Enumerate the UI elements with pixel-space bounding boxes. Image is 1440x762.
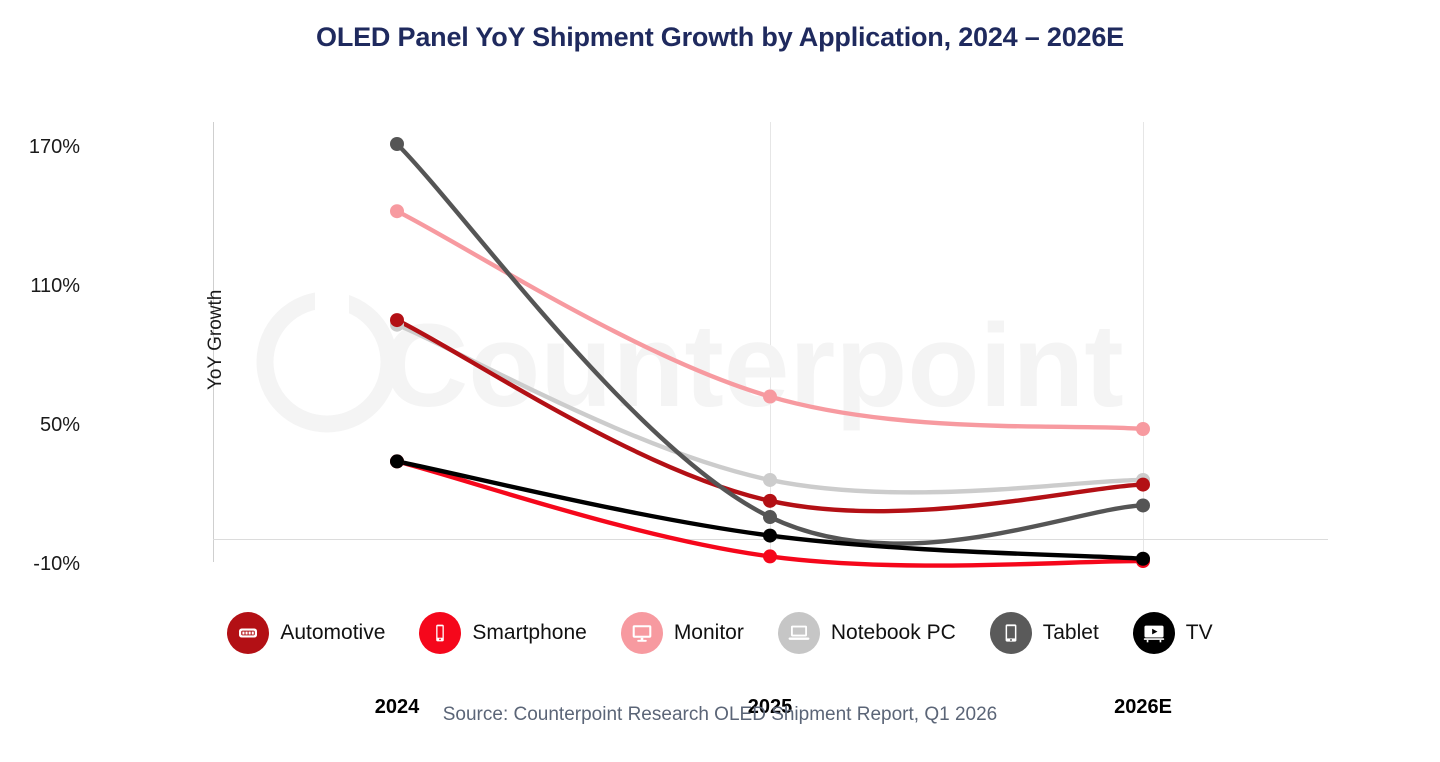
y-tick-label-0: 170% <box>0 137 80 157</box>
legend-item-automotive[interactable]: Automotive <box>227 612 385 654</box>
car-dashboard-icon <box>227 612 269 654</box>
monitor-icon <box>621 612 663 654</box>
legend-label-notebook-pc: Notebook PC <box>831 621 956 645</box>
smartphone-icon <box>419 612 461 654</box>
chart-legend: Automotive Smartphone Monitor <box>0 612 1440 654</box>
tv-icon <box>1133 612 1175 654</box>
legend-item-tv[interactable]: TV <box>1133 612 1213 654</box>
legend-label-smartphone: Smartphone <box>472 621 586 645</box>
plot-area: YoY Growth 170% 110% 50% -10% 2024 2025 … <box>213 122 1328 562</box>
y-tick-label-2: 50% <box>0 415 80 435</box>
legend-item-smartphone[interactable]: Smartphone <box>419 612 586 654</box>
legend-label-tablet: Tablet <box>1043 621 1099 645</box>
y-tick-label-1: 110% <box>0 276 80 296</box>
zero-line <box>213 539 1328 540</box>
legend-item-notebook-pc[interactable]: Notebook PC <box>778 612 956 654</box>
gridline-2025 <box>770 122 771 562</box>
legend-label-tv: TV <box>1186 621 1213 645</box>
page-title: OLED Panel YoY Shipment Growth by Applic… <box>0 22 1440 53</box>
laptop-icon <box>778 612 820 654</box>
legend-label-automotive: Automotive <box>280 621 385 645</box>
y-axis-title: YoY Growth <box>205 290 227 390</box>
legend-item-monitor[interactable]: Monitor <box>621 612 744 654</box>
y-tick-label-3: -10% <box>0 554 80 574</box>
legend-label-monitor: Monitor <box>674 621 744 645</box>
tablet-icon <box>990 612 1032 654</box>
gridline-2026 <box>1143 122 1144 562</box>
legend-item-tablet[interactable]: Tablet <box>990 612 1099 654</box>
source-note: Source: Counterpoint Research OLED Shipm… <box>0 704 1440 726</box>
